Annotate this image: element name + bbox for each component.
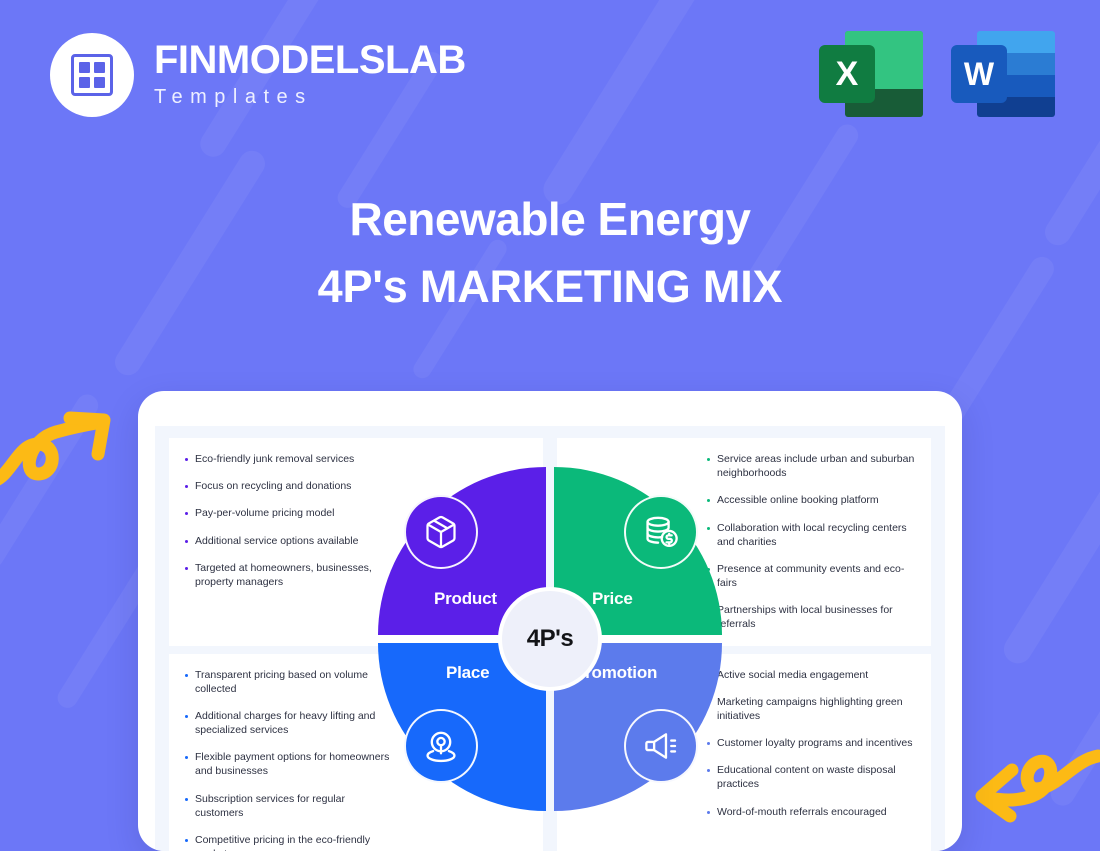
list-item: Additional charges for heavy lifting and… (185, 709, 393, 737)
list-item: Focus on recycling and donations (185, 479, 351, 493)
list-item: Word-of-mouth referrals encouraged (707, 805, 887, 819)
bullet-dot-icon (185, 715, 188, 718)
list-item: Partnerships with local businesses for r… (707, 603, 915, 631)
quadrant-grid: Eco-friendly junk removal services Focus… (169, 438, 931, 839)
bullet-dot-icon (185, 540, 188, 543)
bullet-list-place: Transparent pricing based on volume coll… (169, 654, 409, 851)
diagram-card: Eco-friendly junk removal services Focus… (138, 391, 962, 851)
bullet-dot-icon (185, 458, 188, 461)
word-icon-letter: W (951, 45, 1007, 103)
bullet-dot-icon (707, 811, 710, 814)
excel-icon[interactable]: X (819, 28, 923, 120)
wheel-label-product: Product (434, 589, 497, 609)
list-item: Pay-per-volume pricing model (185, 506, 334, 520)
diagram-panel: Eco-friendly junk removal services Focus… (155, 426, 945, 851)
bullet-dot-icon (185, 756, 188, 759)
list-item: Customer loyalty programs and incentives (707, 736, 913, 750)
bullet-dot-icon (707, 458, 710, 461)
bullet-dot-icon (185, 485, 188, 488)
grid-squares-icon (71, 54, 113, 96)
megaphone-icon (624, 709, 698, 783)
wheel-label-place: Place (446, 663, 489, 683)
format-icons: X W (819, 28, 1055, 120)
brand-logo[interactable]: FINMODELSLAB Templates (50, 33, 466, 117)
list-item: Transparent pricing based on volume coll… (185, 668, 393, 696)
list-item: Flexible payment options for homeowners … (185, 750, 393, 778)
squiggly-arrow-down-left-icon (966, 742, 1100, 845)
list-item: Additional service options available (185, 534, 358, 548)
logo-mark (50, 33, 134, 117)
list-item: Collaboration with local recycling cente… (707, 521, 915, 549)
bullet-dot-icon (185, 798, 188, 801)
list-item: Competitive pricing in the eco-friendly … (185, 833, 393, 851)
list-item: Subscription services for regular custom… (185, 792, 393, 820)
location-pin-icon (404, 709, 478, 783)
list-item: Targeted at homeowners, businesses, prop… (185, 561, 393, 589)
bullet-list-price: Service areas include urban and suburban… (691, 438, 931, 646)
four-ps-wheel: Product Price Place Promotion 4P's (378, 467, 722, 811)
box-icon (404, 495, 478, 569)
word-icon[interactable]: W (951, 28, 1055, 120)
list-item: Service areas include urban and suburban… (707, 452, 915, 480)
list-item: Educational content on waste disposal pr… (707, 763, 915, 791)
list-item: Presence at community events and eco-fai… (707, 562, 915, 590)
page-header: FINMODELSLAB Templates X W (0, 0, 1100, 150)
bullet-dot-icon (185, 567, 188, 570)
wheel-hub-label: 4P's (527, 625, 573, 653)
bullet-list-product: Eco-friendly junk removal services Focus… (169, 438, 409, 603)
list-item: Active social media engagement (707, 668, 868, 682)
page-title: Renewable Energy 4P's MARKETING MIX (0, 196, 1100, 309)
squiggly-arrow-up-right-icon (0, 404, 118, 501)
bullet-list-promotion: Active social media engagement Marketing… (691, 654, 931, 833)
bullet-dot-icon (185, 839, 188, 842)
coins-dollar-icon (624, 495, 698, 569)
list-item: Accessible online booking platform (707, 493, 879, 507)
brand-subtitle: Templates (154, 83, 466, 111)
list-item: Eco-friendly junk removal services (185, 452, 354, 466)
wheel-hub: 4P's (498, 587, 602, 691)
title-line-1: Renewable Energy (0, 196, 1100, 242)
bullet-dot-icon (185, 512, 188, 515)
excel-icon-letter: X (819, 45, 875, 103)
bullet-dot-icon (185, 674, 188, 677)
brand-name: FINMODELSLAB (154, 39, 466, 81)
title-line-2: 4P's MARKETING MIX (0, 264, 1100, 309)
list-item: Marketing campaigns highlighting green i… (707, 695, 915, 723)
wheel-label-price: Price (592, 589, 633, 609)
